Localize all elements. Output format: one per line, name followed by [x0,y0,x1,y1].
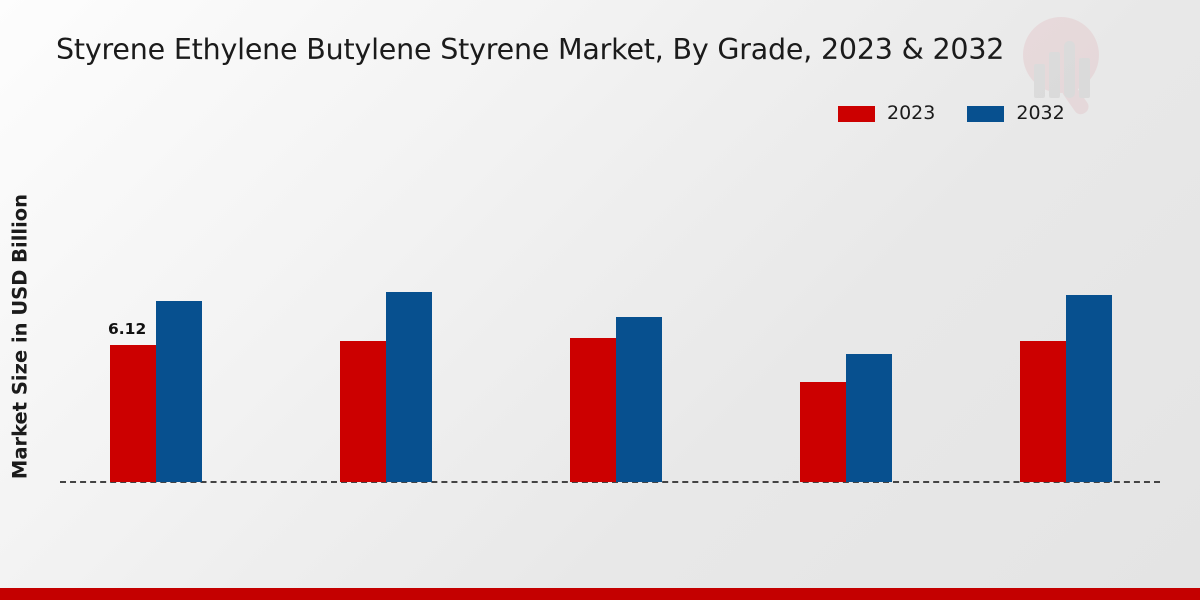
bar-group-blow-molding-grade: Blow Molding Grade [505,150,727,482]
bar-2032-food-grade[interactable] [156,301,202,482]
bar-2023-thermoforming-grade[interactable] [800,382,846,482]
plot-area: 6.12 Food Grade Extrusion Grade [0,0,1200,600]
bar-2023-food-grade[interactable] [110,345,156,482]
bar-2023-blow-molding-grade[interactable] [570,338,616,482]
bar-2023-injection-molding-grade[interactable] [1020,341,1066,482]
bar-group-thermoforming-grade: Thermoforming Grade [735,150,957,482]
bar-group-extrusion-grade: Extrusion Grade [275,150,497,482]
bottom-banner [0,588,1200,600]
bar-2032-blow-molding-grade[interactable] [616,317,662,482]
bar-group-injection-molding-grade: Injection Molding Grade [955,150,1177,482]
value-label-2023-food-grade: 6.12 [108,320,146,338]
bar-2032-injection-molding-grade[interactable] [1066,295,1112,482]
bar-2023-extrusion-grade[interactable] [340,341,386,482]
bar-2032-extrusion-grade[interactable] [386,292,432,482]
chart-page: Styrene Ethylene Butylene Styrene Market… [0,0,1200,600]
bar-group-food-grade: 6.12 Food Grade [45,150,267,482]
bar-2032-thermoforming-grade[interactable] [846,354,892,482]
